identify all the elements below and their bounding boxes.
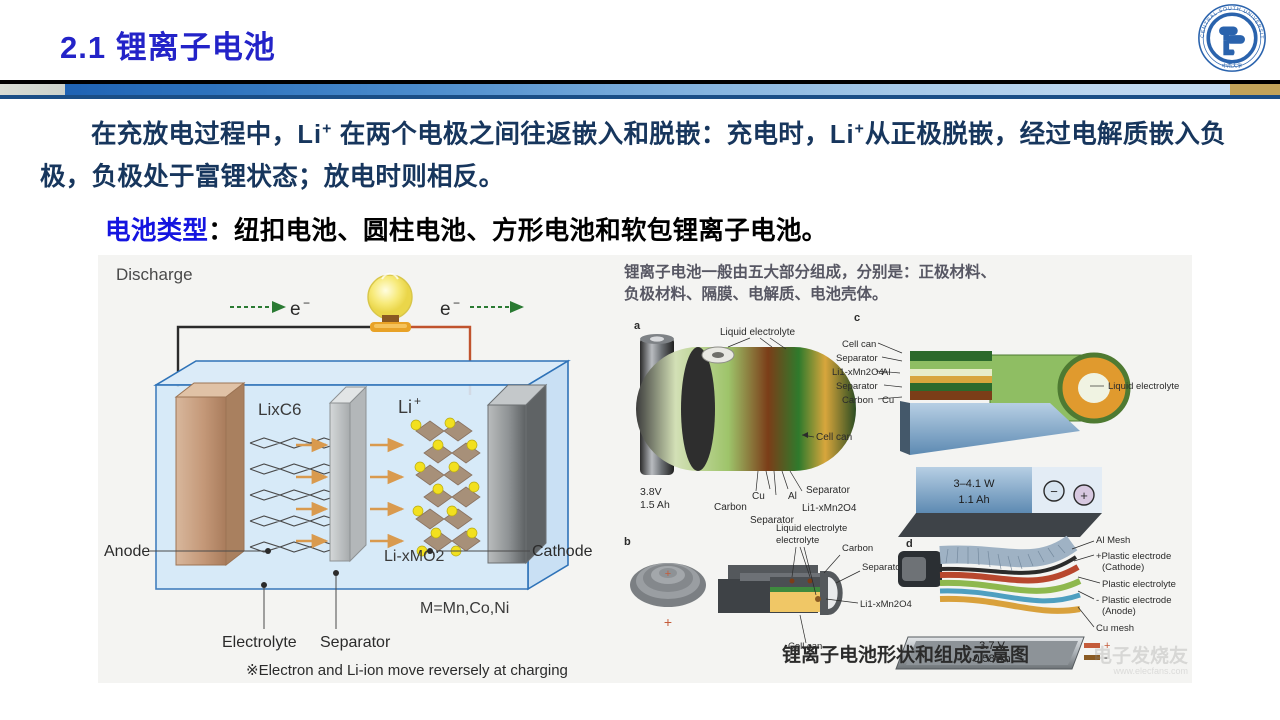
li-ion-1: Li+ <box>297 121 332 149</box>
light-bulb-icon <box>368 274 412 332</box>
watermark-url: www.elecfans.com <box>1093 667 1188 677</box>
li-ion-2: Li+ <box>830 121 865 149</box>
svg-text:−: − <box>303 296 310 310</box>
panel-a-spec-2: 1.5 Ah <box>640 499 670 511</box>
figure-right-caption: 锂离子电池形状和组成示意图 <box>782 640 1029 667</box>
battery-types-value: 纽扣电池、圆柱电池、方形电池和软包锂离子电池。 <box>234 217 827 245</box>
anode-callout-label: Anode <box>104 543 150 560</box>
anode-electrode <box>176 383 244 565</box>
panel-c-callout-limn2o4: Li1-xMn2O4 <box>832 367 884 378</box>
svg-text:+: + <box>665 568 671 580</box>
figure-right-heading-line2: 负极材料、隔膜、电解质、电池壳体。 <box>624 284 888 303</box>
electrolyte-callout-label: Electrolyte <box>222 634 297 651</box>
panel-d-callout-plastic-electrolyte: Plastic electrolyte <box>1102 579 1176 590</box>
panel-c-callout-cell-can: Cell can <box>842 339 876 350</box>
svg-text:Li: Li <box>398 397 412 417</box>
cathode-material-label: Li-xMO2 <box>384 548 445 565</box>
panel-b-callout-carbon: Carbon <box>842 543 873 554</box>
anode-material-label: LixC6 <box>258 400 301 419</box>
panel-d-callout-anode: - Plastic electrode <box>1096 595 1172 606</box>
panel-c-callout-carbon: Carbon <box>842 395 873 406</box>
watermark: 电子发烧友 www.elecfans.com <box>1093 646 1188 677</box>
para1-part-b: 在两个电极之间往返嵌入和脱嵌：充电时， <box>332 121 830 149</box>
university-logo-icon: CENTRAL SOUTH UNIVERSITY 中南大学 <box>1196 2 1268 74</box>
panel-c-callout-separator-2: Separator <box>836 381 878 392</box>
panel-c-callout-separator-1: Separator <box>836 353 878 364</box>
svg-text:e: e <box>290 299 301 320</box>
svg-text:e: e <box>440 299 451 320</box>
divider-blue-gradient <box>65 84 1230 95</box>
panel-d-label: d <box>906 538 913 550</box>
panel-d-callout-al-mesh: Al Mesh <box>1096 535 1130 546</box>
cathode-callout-label: Cathode <box>532 543 593 560</box>
panel-c-spec-2: 1.1 Ah <box>958 494 989 506</box>
panel-d-callout-anode-2: (Anode) <box>1102 606 1136 617</box>
battery-types-colon: ： <box>208 217 234 245</box>
para1-part-a: 在充放电过程中， <box>91 121 297 149</box>
body-paragraph: 在充放电过程中，Li+ 在两个电极之间往返嵌入和脱嵌：充电时，Li+从正极脱嵌，… <box>40 108 1250 198</box>
panel-a-callout-al: Al <box>788 491 797 502</box>
panel-d-callout-cu-mesh: Cu mesh <box>1096 623 1134 634</box>
divider-gray-segment <box>0 84 65 95</box>
discharge-footnote: ※Electron and Li-ion move reversely at c… <box>246 662 568 679</box>
panel-b-callout-liquid-electrolyte-2: electrolyte <box>776 535 819 546</box>
figure-cell-shapes: 锂离子电池一般由五大部分组成，分别是：正极材料、 负极材料、隔膜、电解质、电池壳… <box>610 255 1192 683</box>
svg-text:中南大学: 中南大学 <box>1222 63 1242 70</box>
panel-c-spec-1: 3–4.1 W <box>954 478 996 490</box>
battery-types-label: 电池类型 <box>105 217 208 245</box>
divider-gold-segment <box>1230 84 1280 95</box>
separator-plate <box>330 387 366 561</box>
panel-a-callout-limn2o4: Li1-xMn2O4 <box>802 503 857 514</box>
panel-a-callout-carbon: Carbon <box>714 502 747 513</box>
panel-c-terminal-positive: + <box>1080 488 1088 503</box>
panel-a-callout-cell-can: Cell can <box>816 432 852 443</box>
divider-navy-rule <box>0 95 1280 99</box>
svg-text:−: − <box>453 296 460 310</box>
title-divider <box>0 80 1280 99</box>
panel-a-callout-cu: Cu <box>752 491 765 502</box>
panel-b-label: b <box>624 536 631 548</box>
figure-discharge-diagram: Discharge e − e − <box>98 255 610 683</box>
panel-d-callout-cathode: +Plastic electrode <box>1096 551 1171 562</box>
cathode-electrode <box>488 385 546 563</box>
discharge-title: Discharge <box>116 265 193 284</box>
battery-types-line: 电池类型：纽扣电池、圆柱电池、方形电池和软包锂离子电池。 <box>40 212 1250 250</box>
prismatic-cell-whole: − + <box>898 467 1102 537</box>
panel-d-callout-cathode-2: (Cathode) <box>1102 562 1144 573</box>
panel-a-label: a <box>634 320 641 332</box>
coin-cell-cutaway <box>718 565 843 615</box>
panel-c-callout-al: Al <box>882 367 890 378</box>
panel-a-callout-liquid-electrolyte: Liquid electrolyte <box>720 327 795 338</box>
panel-c-callout-liquid-electrolyte: Liquid electrolyte <box>1108 381 1179 392</box>
panel-a-callout-separator-2: Separator <box>806 485 851 496</box>
cylindrical-cell-cutaway <box>636 347 856 471</box>
svg-text:+: + <box>414 394 421 408</box>
panel-c-label: c <box>854 312 860 324</box>
panel-c-terminal-negative: − <box>1050 484 1058 499</box>
panel-b-callout-limn2o4: Li1-xMn2O4 <box>860 599 912 610</box>
panel-b-polarity: + <box>664 614 672 630</box>
separator-callout-label: Separator <box>320 634 391 651</box>
panel-a-spec-1: 3.8V <box>640 486 662 498</box>
watermark-text: 电子发烧友 <box>1093 646 1188 667</box>
panel-c-callout-cu: Cu <box>882 395 894 406</box>
page-title: 2.1 锂离子电池 <box>60 22 276 67</box>
metal-note-label: M=Mn,Co,Ni <box>420 600 509 617</box>
panel-b-callout-liquid-electrolyte: Liquid electrolyte <box>776 523 847 534</box>
figure-right-heading-line1: 锂离子电池一般由五大部分组成，分别是：正极材料、 <box>624 262 996 281</box>
panel-b-callout-separator: Separator <box>862 562 904 573</box>
